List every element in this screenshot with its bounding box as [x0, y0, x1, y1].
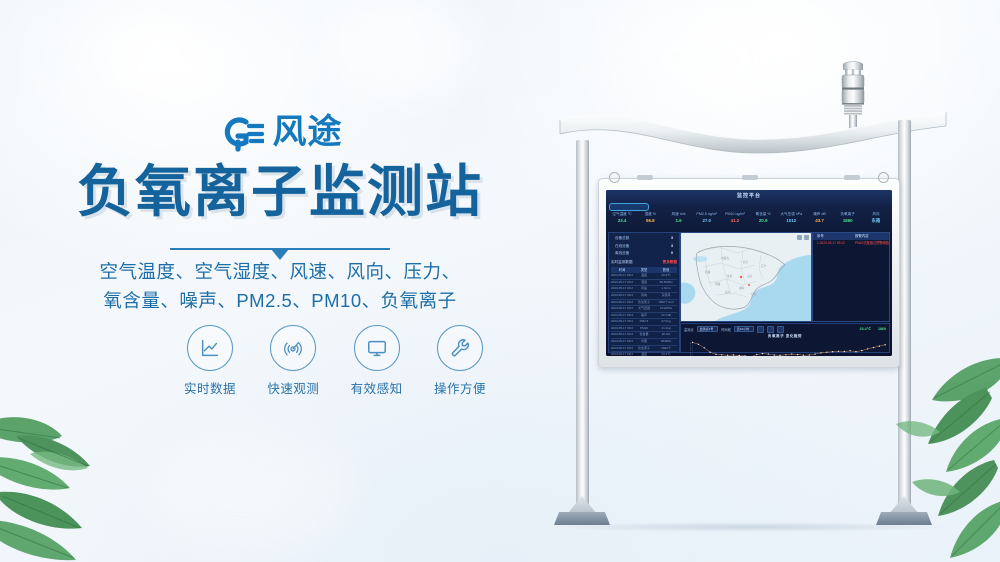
- monitoring-station-structure: 监控平台 空气温度 ℃23.4湿度 %56.8风速 m/s1.6PM2.5 ug…: [540, 60, 960, 530]
- kpi-value: 27.0: [693, 217, 721, 224]
- page-title: 负氧离子监测站: [0, 160, 560, 224]
- feature-item-effective-sensing[interactable]: 有效感知: [342, 325, 412, 397]
- chart-toolbar: 监测点 监测点1号 时间段 近24小时 23.4℃ 1860: [681, 324, 889, 334]
- cabinet-bracket: [637, 175, 653, 180]
- table-cell: 1.6m/s: [655, 286, 677, 292]
- kpi-item: 噪声 dB43.7: [805, 211, 833, 229]
- table-cell: 噪声: [633, 313, 655, 319]
- svg-text:西藏: 西藏: [715, 282, 721, 286]
- hanger-ring-left: [609, 172, 620, 183]
- alarm-column-header: 序号: [813, 233, 851, 240]
- wrench-icon: [437, 325, 483, 371]
- svg-text:甘肃: 甘肃: [727, 274, 733, 278]
- table-cell: 2023-05-17 09:20: [611, 346, 633, 352]
- table-cell: 湿度: [633, 280, 655, 286]
- zoom-out-icon[interactable]: [804, 235, 809, 240]
- chart-action-button[interactable]: [777, 326, 784, 333]
- stat-label: 在线设备: [615, 244, 629, 249]
- table-caption-row: 实时监测数据 更多数据: [611, 260, 677, 265]
- table-cell: 大气压强: [633, 306, 655, 312]
- svg-text:山东: 山东: [747, 274, 753, 278]
- table-body: 2023-05-17 09:20温度23.4℃2023-05-17 09:20湿…: [609, 273, 679, 356]
- alarm-row[interactable]: 1 2023-05-17 09:12PM10浓度超过预警阈值 41.2ug/m³: [813, 240, 889, 247]
- device-stat-row: 在线设备3: [609, 242, 679, 249]
- kpi-strip: 空气温度 ℃23.4湿度 %56.8风速 m/s1.6PM2.5 ug/m³27…: [608, 211, 890, 229]
- kpi-item: PM10 ug/m³41.2: [721, 211, 749, 229]
- table-cell: 温度: [633, 273, 655, 279]
- kpi-value: 41.2: [721, 217, 749, 224]
- chart-filter-select-1[interactable]: 监测点1号: [697, 326, 719, 332]
- line-chart-icon: [187, 325, 233, 371]
- svg-text:新疆: 新疆: [705, 270, 711, 274]
- feature-label: 操作方便: [425, 378, 495, 397]
- table-cell: 2023-05-17 09:20: [611, 280, 633, 286]
- table-cell: 27.0ug: [655, 319, 677, 325]
- device-stat-row: 离线设备0: [609, 250, 679, 257]
- chart-readout-1: 23.4℃: [860, 327, 871, 331]
- table-row[interactable]: 2023-05-17 09:20PM2.527.0ug: [611, 319, 677, 326]
- table-cell: 20.9%: [655, 332, 677, 338]
- alarm-cell: PM10浓度超过预警阈值 41.2ug/m³: [851, 240, 889, 247]
- table-cell: 56.8%RH: [655, 280, 677, 286]
- kpi-item: 风向东南: [862, 211, 890, 229]
- table-row[interactable]: 2023-05-17 09:20温度23.4℃: [611, 273, 677, 280]
- feature-row: 实时数据 快速观测: [175, 325, 495, 397]
- table-cell: 23.4℃: [655, 273, 677, 279]
- brand-name: 风途: [273, 115, 343, 149]
- kpi-item: 大气压强 hPa1012: [777, 211, 805, 229]
- table-cell: 光照: [633, 339, 655, 345]
- stat-label: 设备总数: [615, 236, 629, 241]
- svg-text:6: 6: [690, 348, 691, 350]
- table-cell: 1822个: [655, 346, 677, 352]
- cabinet-bracket: [844, 175, 860, 180]
- kpi-value: 1012: [777, 217, 805, 224]
- svg-text:7: 7: [690, 346, 691, 348]
- svg-text:北京: 北京: [743, 260, 749, 264]
- cabinet-bracket: [742, 175, 758, 180]
- stat-label: 离线设备: [615, 251, 629, 256]
- feature-label: 快速观测: [258, 378, 328, 397]
- table-cell: 18340lx: [655, 339, 677, 345]
- table-cell: 负氧离子: [633, 300, 655, 306]
- table-cell: 2023-05-17 09:20: [611, 352, 633, 356]
- dashboard-title: 监控平台: [606, 192, 892, 199]
- table-more-link[interactable]: 更多数据: [663, 260, 677, 265]
- table-cell: 风向: [633, 293, 655, 299]
- alarm-column-header: 报警内容: [851, 233, 889, 240]
- kpi-value: 20.9: [749, 217, 777, 224]
- alarm-body: 1 2023-05-17 09:12PM10浓度超过预警阈值 41.2ug/m³: [813, 240, 889, 247]
- dashboard-tag[interactable]: [609, 203, 649, 211]
- chart-action-button[interactable]: [757, 326, 764, 333]
- monitor-icon: [354, 325, 400, 371]
- chart-filter-label-2: 时间段: [721, 327, 731, 332]
- kpi-item: 负氧离子1860: [834, 211, 862, 229]
- trend-chart-panel: 监测点 监测点1号 时间段 近24小时 23.4℃ 1860 负氧离子 变化趋势…: [680, 323, 890, 353]
- brand-logo: 风途: [0, 112, 560, 152]
- feature-item-easy-operation[interactable]: 操作方便: [425, 325, 495, 397]
- title-divider: [170, 248, 390, 250]
- kpi-value: 43.7: [805, 217, 833, 224]
- china-map[interactable]: 内蒙古新疆 甘肃北京 山东湖南 四川广东 西藏辽宁: [680, 232, 812, 322]
- device-stat-list: 设备总数3在线设备3离线设备0: [609, 233, 679, 257]
- spec-list: 空气温度、空气湿度、风速、风向、压力、 氧含量、噪声、PM2.5、PM10、负氧…: [0, 258, 560, 315]
- svg-text:5: 5: [690, 350, 691, 352]
- table-cell: 2023-05-17 09:20: [611, 273, 633, 279]
- kpi-value: 23.4: [608, 217, 636, 224]
- kpi-item: PM2.5 ug/m³27.0: [693, 211, 721, 229]
- radar-sensor-icon: [270, 325, 316, 371]
- table-row[interactable]: 2023-05-17 09:20噪声43.7dB: [611, 313, 677, 320]
- table-row[interactable]: 2023-05-17 09:20PM1041.2ug: [611, 326, 677, 333]
- hanger-ring-right: [878, 172, 889, 183]
- svg-text:3: 3: [690, 355, 691, 356]
- table-cell: 2023-05-17 09:20: [611, 332, 633, 338]
- feature-item-fast-observation[interactable]: 快速观测: [258, 325, 328, 397]
- table-cell: 2023-05-17 09:20: [611, 300, 633, 306]
- feature-item-realtime-data[interactable]: 实时数据: [175, 325, 245, 397]
- wave-canopy: [558, 106, 948, 164]
- spec-line-2: 氧含量、噪声、PM2.5、PM10、负氧离子: [0, 287, 560, 316]
- monitoring-dashboard: 监控平台 空气温度 ℃23.4湿度 %56.8风速 m/s1.6PM2.5 ug…: [606, 190, 892, 356]
- table-cell: 23.1℃: [655, 352, 677, 356]
- table-row[interactable]: 2023-05-17 09:20温度23.1℃: [611, 352, 677, 356]
- table-row[interactable]: 2023-05-17 09:20负氧离子1860个/cm³: [611, 300, 677, 307]
- table-cell: 2023-05-17 09:20: [611, 286, 633, 292]
- svg-text:8: 8: [690, 343, 691, 345]
- spec-line-1: 空气温度、空气湿度、风速、风向、压力、: [0, 258, 560, 287]
- kpi-item: 风速 m/s1.6: [664, 211, 692, 229]
- chart-action-button[interactable]: [767, 326, 774, 333]
- table-cell: 2023-05-17 09:20: [611, 319, 633, 325]
- kpi-value: 东南: [862, 217, 890, 224]
- table-cell: 氧含量: [633, 332, 655, 338]
- base-gusset-left: [567, 496, 597, 514]
- table-cell: 2023-05-17 09:20: [611, 293, 633, 299]
- stat-value: 3: [671, 236, 673, 241]
- svg-text:湖南: 湖南: [739, 286, 745, 290]
- table-cell: 43.7dB: [655, 313, 677, 319]
- table-row[interactable]: 2023-05-17 09:20氧含量20.9%: [611, 332, 677, 339]
- table-cell: 负氧离子: [633, 346, 655, 352]
- hero-text-column: 风途 负氧离子监测站 空气温度、空气湿度、风速、风向、压力、 氧含量、噪声、PM…: [0, 0, 560, 562]
- table-row[interactable]: 2023-05-17 09:20风速1.6m/s: [611, 286, 677, 293]
- kpi-item: 空气温度 ℃23.4: [608, 211, 636, 229]
- chart-readout-2: 1860: [878, 327, 886, 331]
- feature-label: 有效感知: [342, 378, 412, 397]
- device-stat-row: 设备总数3: [609, 235, 679, 242]
- chart-filter-select-2[interactable]: 近24小时: [734, 326, 754, 332]
- kpi-item: 湿度 %56.8: [636, 211, 664, 229]
- alarm-panel: 序号报警内容 1 2023-05-17 09:12PM10浓度超过预警阈值 41…: [812, 232, 890, 322]
- base-gusset-right: [889, 496, 919, 514]
- svg-text:辽宁: 辽宁: [761, 264, 767, 268]
- svg-text:4: 4: [690, 353, 691, 355]
- svg-text:广东: 广东: [751, 292, 757, 296]
- promo-poster: 风途 负氧离子监测站 空气温度、空气湿度、风速、风向、压力、 氧含量、噪声、PM…: [0, 0, 1000, 562]
- alarm-cell: 1 2023-05-17 09:12: [813, 240, 851, 247]
- zoom-in-icon[interactable]: [797, 235, 802, 240]
- kpi-item: 氧含量 %20.9: [749, 211, 777, 229]
- table-cell: 41.2ug: [655, 326, 677, 332]
- stat-value: 0: [671, 251, 673, 256]
- table-cell: 2023-05-17 09:20: [611, 339, 633, 345]
- table-cell: 东南风: [655, 293, 677, 299]
- ground-shadow: [550, 522, 950, 532]
- svg-text:内蒙古: 内蒙古: [721, 256, 729, 260]
- kpi-value: 1860: [834, 217, 862, 224]
- table-row[interactable]: 2023-05-17 09:20大气压强1012hPa: [611, 306, 677, 313]
- support-post-left: [576, 140, 589, 515]
- table-caption: 实时监测数据: [611, 260, 633, 265]
- table-row[interactable]: 2023-05-17 09:20负氧离子1822个: [611, 346, 677, 353]
- stat-value: 3: [671, 244, 673, 249]
- chart-filter-label-1: 监测点: [684, 327, 694, 332]
- left-data-panel: 设备总数3在线设备3离线设备0 实时监测数据 更多数据 时间类型数值 2023-…: [608, 232, 680, 353]
- alarm-header: 序号报警内容: [813, 233, 889, 240]
- table-cell: 1012hPa: [655, 306, 677, 312]
- table-cell: PM2.5: [633, 319, 655, 325]
- lcd-screen: 监控平台 空气温度 ℃23.4湿度 %56.8风速 m/s1.6PM2.5 ug…: [606, 190, 892, 356]
- table-row[interactable]: 2023-05-17 09:20风向东南风: [611, 293, 677, 300]
- table-cell: 1860个/cm³: [655, 300, 677, 306]
- wind-g-logo-icon: [218, 112, 264, 152]
- table-row[interactable]: 2023-05-17 09:20湿度56.8%RH: [611, 280, 677, 287]
- feature-label: 实时数据: [175, 378, 245, 397]
- display-cabinet: 监控平台 空气温度 ℃23.4湿度 %56.8风速 m/s1.6PM2.5 ug…: [598, 178, 900, 368]
- kpi-value: 56.8: [636, 217, 664, 224]
- svg-text:四川: 四川: [725, 290, 731, 294]
- table-cell: 风速: [633, 286, 655, 292]
- table-cell: 2023-05-17 09:20: [611, 326, 633, 332]
- table-cell: 温度: [633, 352, 655, 356]
- map-zoom-controls[interactable]: [797, 235, 809, 240]
- table-cell: 2023-05-17 09:20: [611, 306, 633, 312]
- table-cell: 2023-05-17 09:20: [611, 313, 633, 319]
- kpi-value: 1.6: [664, 217, 692, 224]
- table-row[interactable]: 2023-05-17 09:20光照18340lx: [611, 339, 677, 346]
- trend-line-chart: 01234567800:0001:0002:0003:0004:0005:000…: [681, 339, 889, 356]
- table-cell: PM10: [633, 326, 655, 332]
